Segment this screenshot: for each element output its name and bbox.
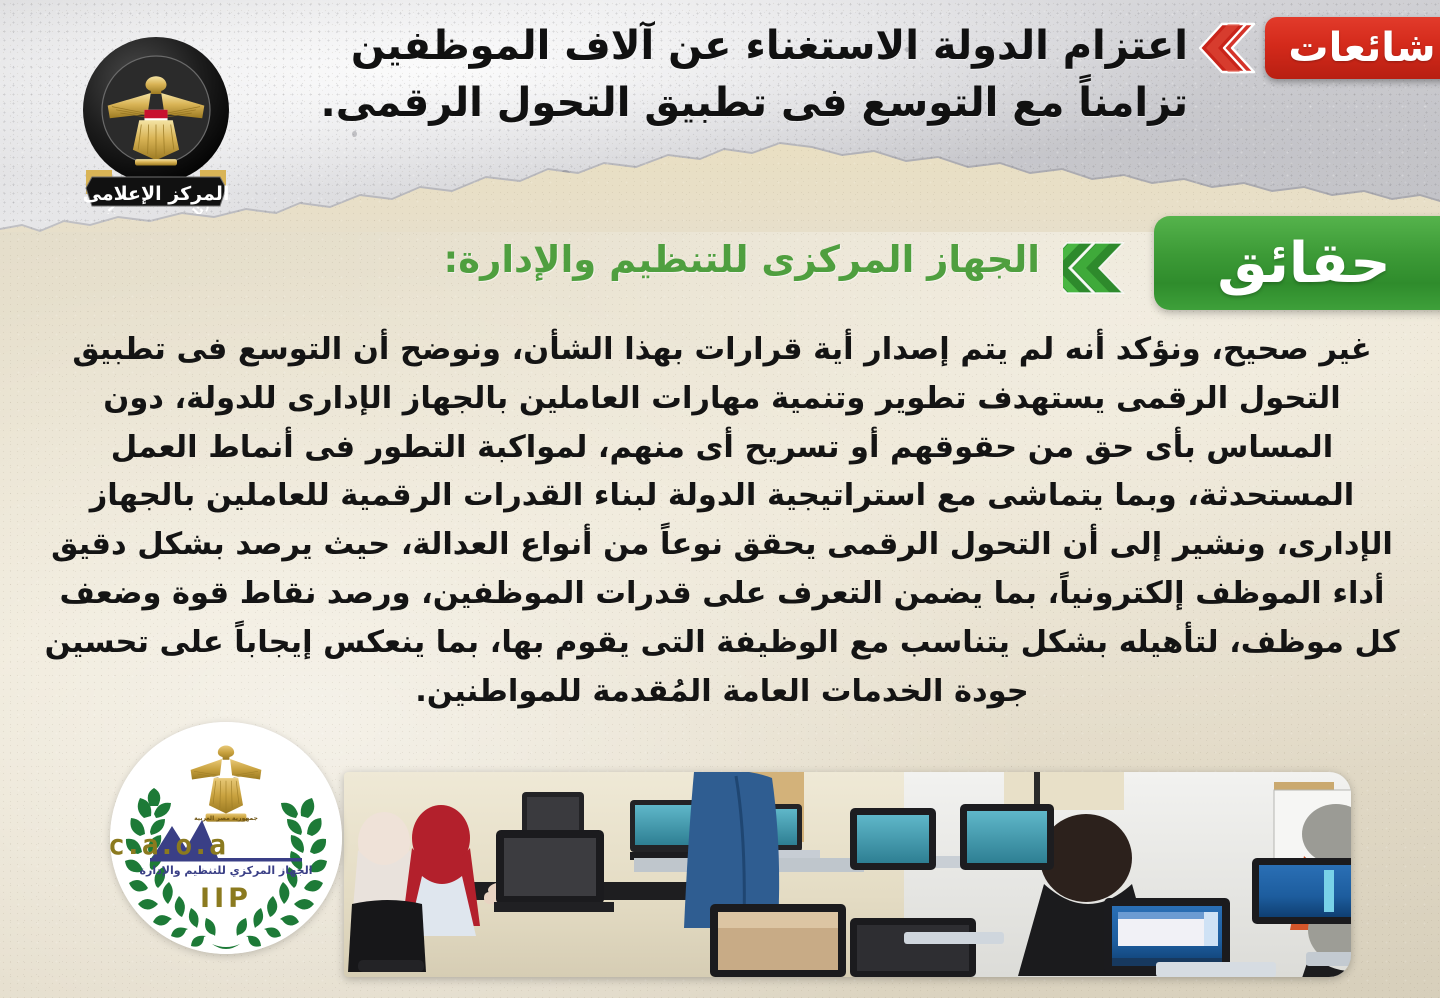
double-chevron-left-icon xyxy=(1198,22,1256,74)
double-chevron-left-icon xyxy=(1063,240,1125,296)
caoa-seal: جمهورية مصر العربية xyxy=(110,722,342,954)
computer-training-lab-photo xyxy=(344,772,1351,977)
caoa-program-label: IIP xyxy=(200,883,252,914)
caoa-arabic-name: الجهاز المركزي للتنظيم والإدارة xyxy=(140,864,313,877)
headline-text: اعتزام الدولة الاستغناء عن آلاف الموظفين… xyxy=(248,18,1188,132)
facts-badge-label: حقائق xyxy=(1217,231,1390,296)
rumours-badge: شائعات xyxy=(1265,17,1440,79)
facts-body-text: غير صحيح، ونؤكد أنه لم يتم إصدار أية قرا… xyxy=(38,326,1406,716)
caoa-acronym: c.a.o.a xyxy=(110,828,226,861)
egyptian-cabinet-media-center-logo: جمهورية مصر العربية رئاسة مجلس الوزراء xyxy=(62,28,250,214)
facts-badge: حقائق xyxy=(1154,216,1440,310)
facts-subtitle: الجهاز المركزى للتنظيم والإدارة: xyxy=(340,238,1040,281)
caoa-eagle-caption: جمهورية مصر العربية xyxy=(194,815,258,822)
infographic-poster: جمهورية مصر العربية رئاسة مجلس الوزراء xyxy=(0,0,1440,998)
rumours-badge-label: شائعات xyxy=(1288,25,1440,71)
cabinet-logo-ribbon-text: المركز الإعلامى xyxy=(83,183,230,205)
